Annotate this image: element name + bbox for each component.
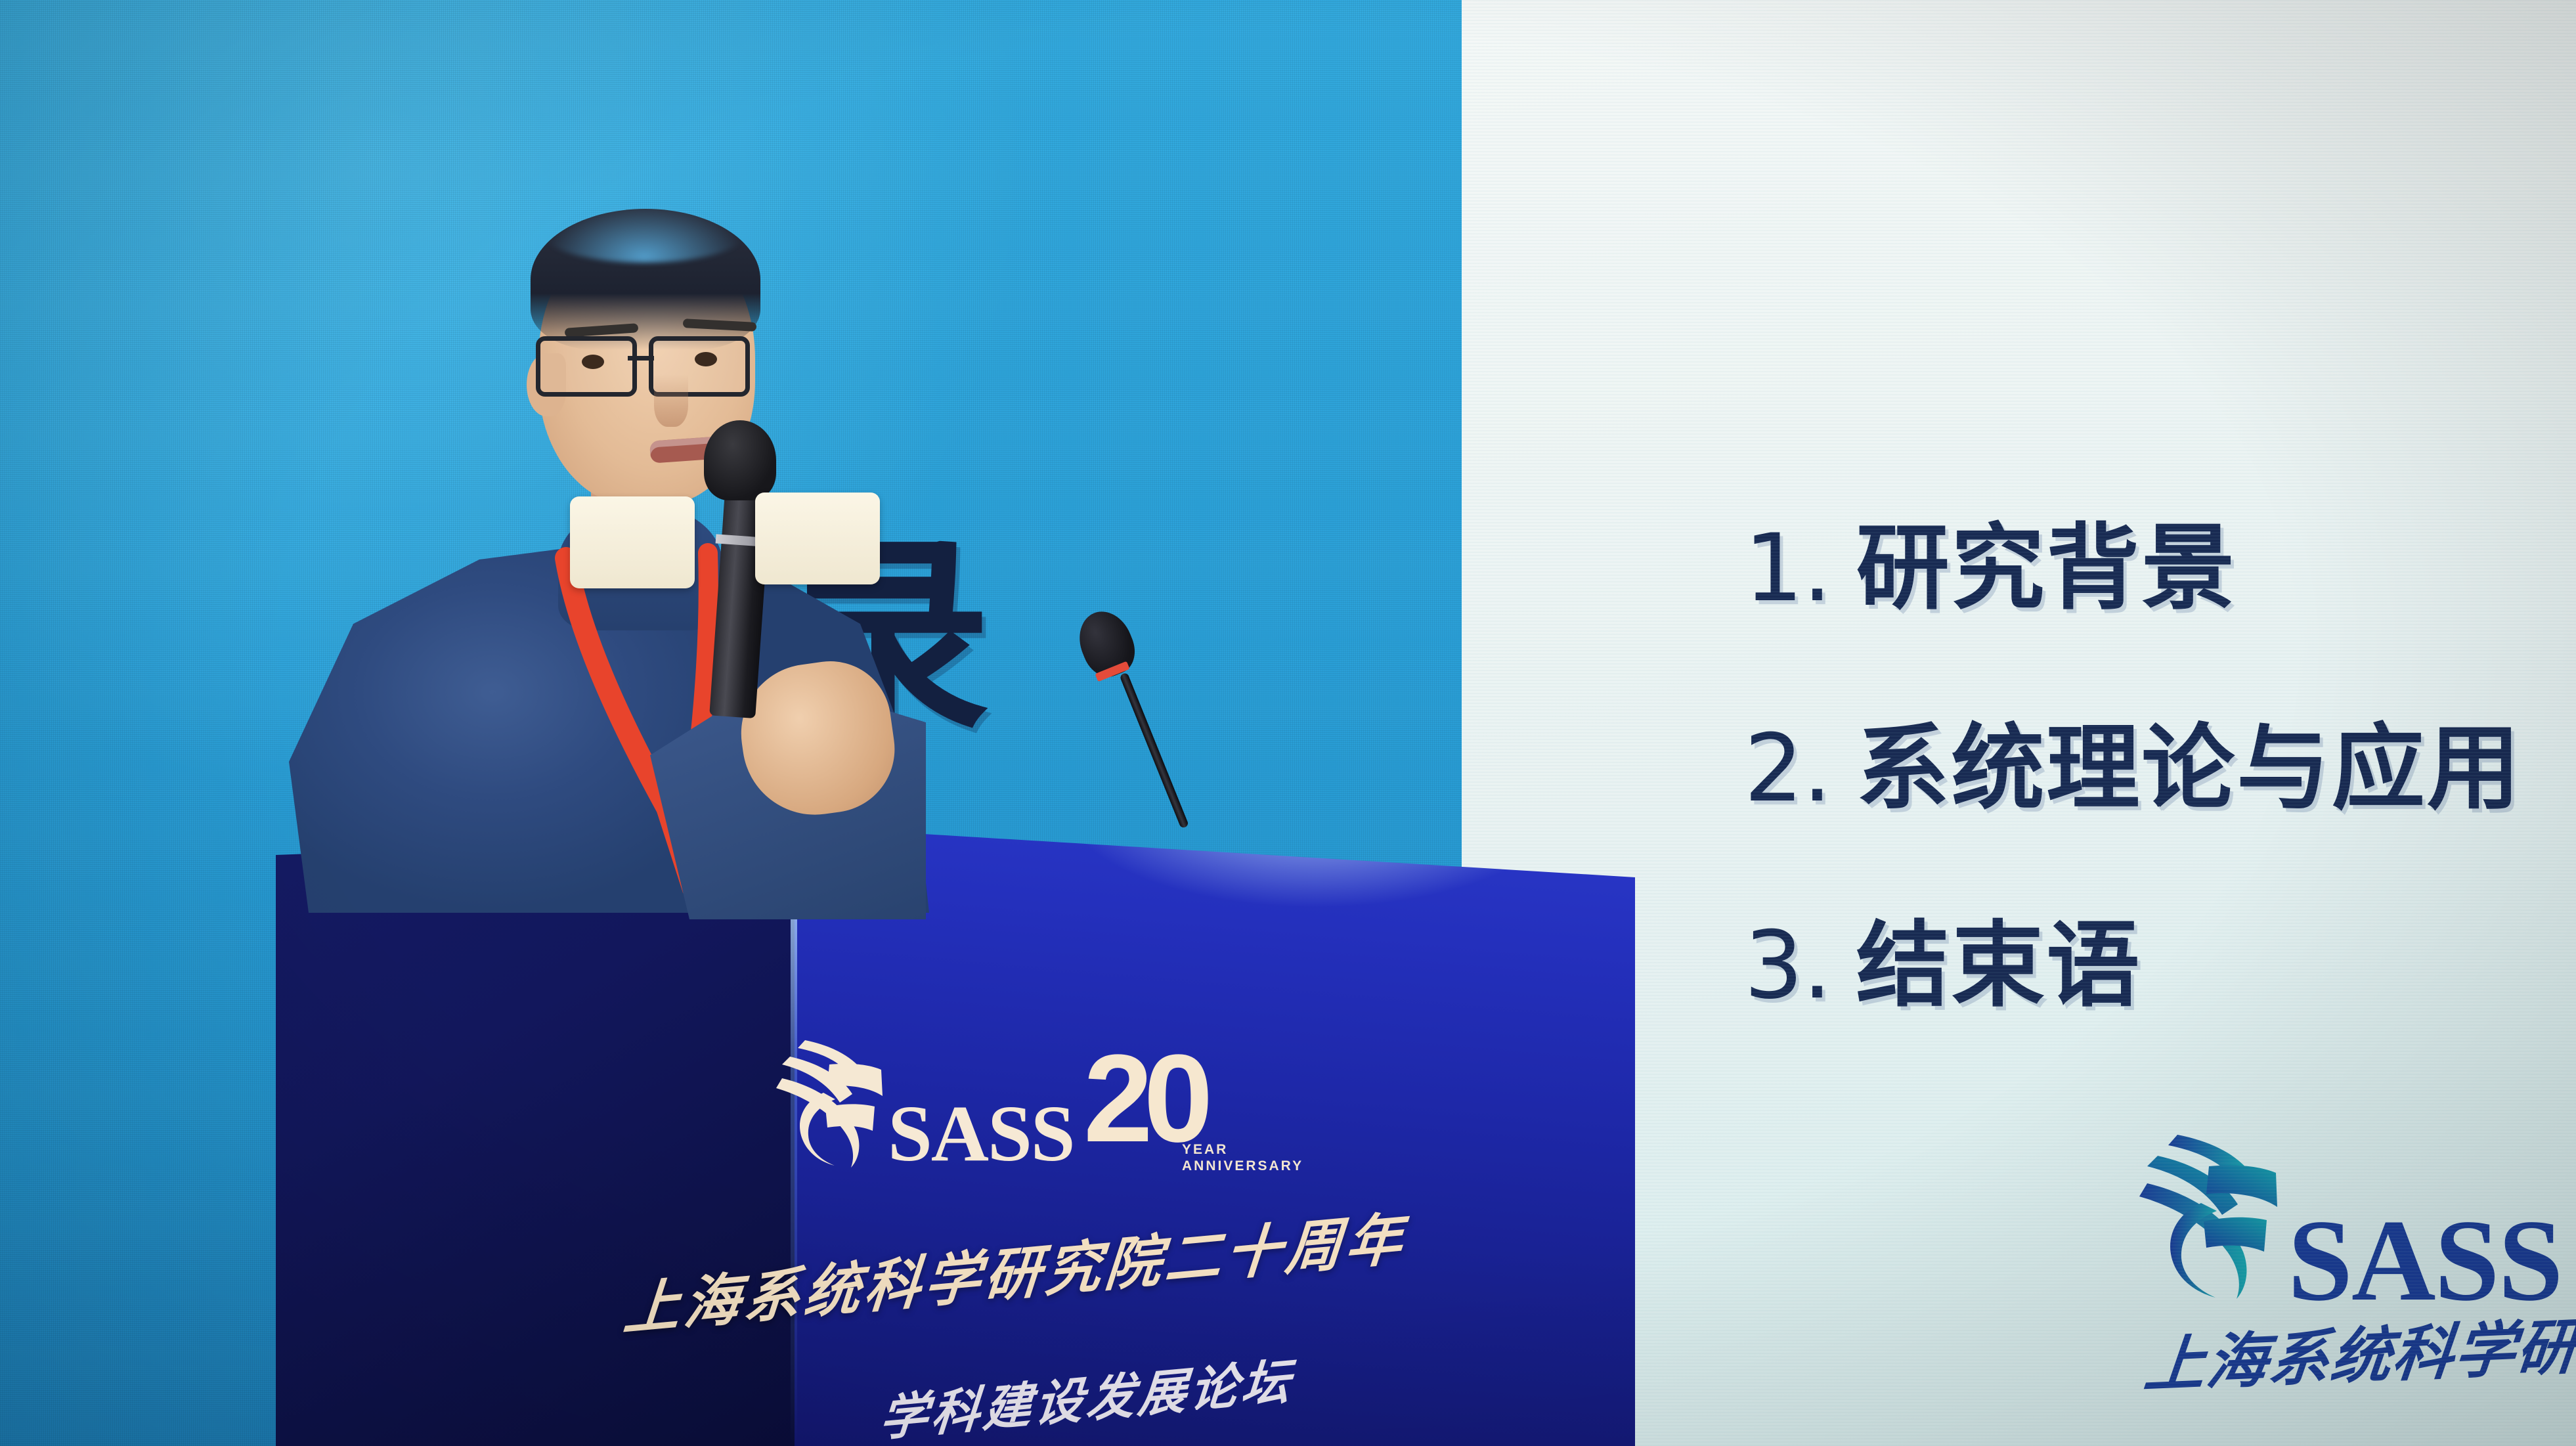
podium: SASS 20 YEAR ANNIVERSARY 上海系统科学研究院二十周年 学… [276, 826, 1635, 1446]
anniversary-label: ANNIVERSARY [1182, 1158, 1303, 1174]
podium-side-panel [276, 834, 801, 1446]
podium-sass-anniversary-logo: SASS 20 YEAR ANNIVERSARY [775, 1043, 1208, 1194]
slide-sass-logo: SASS 上海系统科学研究院 [2138, 1123, 2558, 1432]
agenda-text-2: 系统理论与应用 [1856, 722, 2522, 816]
speaker-eye-right [695, 352, 717, 366]
speaker-hair-rim-light [542, 204, 746, 263]
slide-agenda-item-1: 1. 研究背景 [1744, 522, 2237, 615]
mic-flag-left [570, 496, 695, 588]
podium-sass-wordmark: SASS [888, 1094, 1074, 1174]
agenda-number-3: 3. [1744, 919, 1831, 1013]
agenda-number-1: 1. [1744, 522, 1831, 615]
speaker-nose [654, 374, 688, 427]
anniversary-year-label: YEAR [1182, 1141, 1303, 1158]
eyeglasses-icon [531, 332, 767, 395]
gooseneck-microphone [1081, 611, 1232, 834]
conference-photo-scene: 录 1. 研究背景 2. 系统理论与应用 3. 结束语 [0, 0, 2576, 1446]
slide-agenda-item-2: 2. 系统理论与应用 [1744, 722, 2522, 816]
agenda-text-3: 结束语 [1856, 919, 2142, 1013]
microphone-stem [1119, 672, 1189, 829]
sass-swoosh-globe-icon [775, 1031, 900, 1179]
handheld-microphone [644, 420, 854, 749]
slide-agenda-item-3: 3. 结束语 [1744, 919, 2141, 1013]
podium-anniversary-caption: YEAR ANNIVERSARY [1182, 1141, 1303, 1174]
mic-flag-right [755, 493, 880, 584]
speaker-eye-left [582, 355, 604, 369]
sass-swoosh-globe-icon [2138, 1123, 2302, 1313]
agenda-text-1: 研究背景 [1856, 522, 2237, 615]
agenda-number-2: 2. [1744, 722, 1831, 816]
sass-chinese-name: 上海系统科学研究院 [2141, 1309, 2576, 1399]
microphone-windscreen-icon [704, 420, 776, 500]
sass-wordmark: SASS [2288, 1202, 2562, 1319]
eyeglass-bridge [628, 356, 654, 361]
